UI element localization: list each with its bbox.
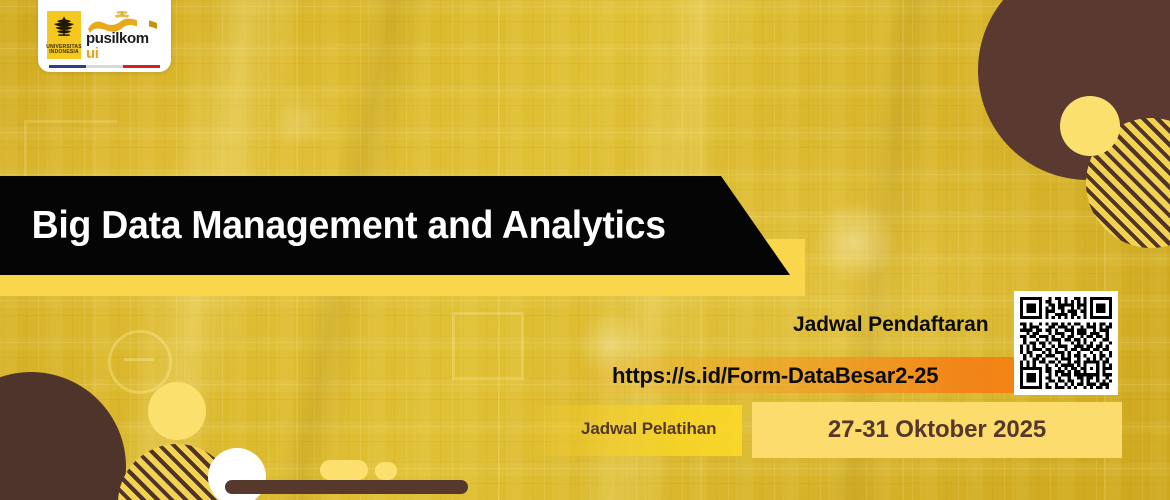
pusilkom-ui-logo: UNIVERSITAS INDONESIA pusilkom ui	[38, 0, 171, 72]
bottom-bar-decoration	[225, 480, 468, 494]
tricolor-stripe-icon	[49, 65, 161, 68]
circuit-box-decoration	[452, 312, 524, 380]
logo-institution-name: UNIVERSITAS INDONESIA	[46, 45, 81, 56]
tricolor-blue	[49, 65, 86, 68]
pusilkom-text: pusilkom ui	[86, 31, 162, 61]
schedule-date-box: 27-31 Oktober 2025	[752, 402, 1122, 458]
logo-row: UNIVERSITAS INDONESIA pusilkom ui	[40, 10, 169, 60]
ui-makara-emblem-icon: UNIVERSITAS INDONESIA	[47, 11, 81, 59]
page-title: Big Data Management and Analytics	[0, 204, 666, 248]
tricolor-white	[86, 65, 123, 68]
pusilkom-wordmark: pusilkom ui	[86, 10, 162, 61]
yellow-pill-decoration-large	[320, 460, 368, 480]
qr-code-icon[interactable]	[1014, 291, 1118, 395]
yellow-pill-decoration-small	[375, 462, 397, 480]
schedule-dates: 27-31 Oktober 2025	[828, 416, 1046, 444]
schedule-label: Jadwal Pelatihan	[581, 419, 716, 439]
registration-label: Jadwal Pendaftaran	[793, 313, 988, 337]
brown-circle-bottom-left	[0, 372, 126, 500]
yellow-circle-top-right	[1060, 96, 1120, 156]
yellow-circle-bottom-left	[148, 382, 206, 440]
title-band: Big Data Management and Analytics	[0, 176, 790, 275]
pusilkom-ui-suffix: ui	[86, 45, 99, 62]
tricolor-red	[123, 65, 160, 68]
registration-url[interactable]: https://s.id/Form-DataBesar2-25	[612, 363, 938, 389]
gold-ribbon-icon	[86, 10, 158, 32]
training-promo-banner: UNIVERSITAS INDONESIA pusilkom ui	[0, 0, 1170, 500]
circuit-ring-decoration	[108, 330, 172, 394]
